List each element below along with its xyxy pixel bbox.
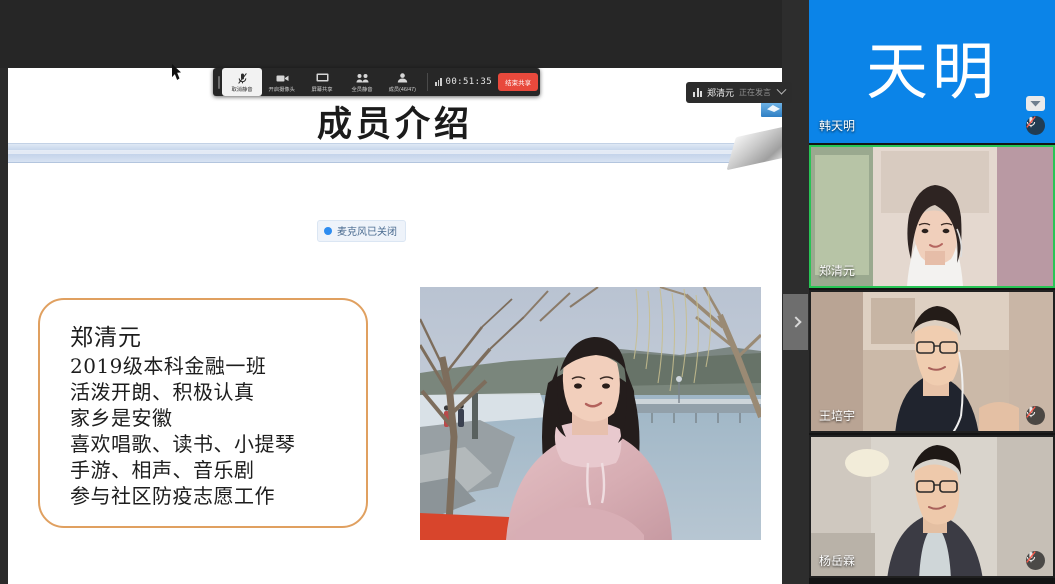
drag-grip-icon[interactable] [215, 68, 222, 96]
meeting-screen-share-window: 成员介绍 郑清元 2019级本科金融一班 活泼开朗、积极认真 家乡是安徽 喜欢唱… [0, 0, 1055, 584]
toolbar-button-mute-all-label: 全员静音 [351, 85, 372, 93]
toolbar-button-mute-all[interactable]: 全员静音 [342, 68, 382, 96]
avatar: 天明 [866, 21, 998, 111]
active-speaker-state: 正在发言 [739, 87, 771, 98]
member-info-text: 郑清元 2019级本科金融一班 活泼开朗、积极认真 家乡是安徽 喜欢唱歌、读书、… [70, 323, 370, 509]
member-detail-line: 手游、相声、音乐剧 [70, 457, 370, 483]
toolbar-button-unmute-label: 取消静音 [231, 85, 252, 93]
meeting-timer-value: 00:51:35 [446, 77, 493, 87]
microphone-muted-icon [1026, 116, 1045, 135]
toolbar-button-participants-label: 成员(46/47) [388, 85, 415, 93]
message-icon[interactable] [1026, 96, 1045, 111]
member-detail-line: 喜欢唱歌、读书、小提琴 [70, 431, 370, 457]
participant-name: 王培宇 [819, 407, 855, 424]
toolbar-button-screen-share-label: 屏幕共享 [311, 85, 332, 93]
member-detail-line: 家乡是安徽 [70, 405, 370, 431]
toolbar-button-camera[interactable]: 开启摄像头 [262, 68, 302, 96]
chevron-down-icon[interactable] [777, 85, 787, 95]
member-detail-line: 2019级本科金融一班 [70, 353, 370, 379]
signal-bars-icon [435, 78, 442, 86]
active-speaker-name: 郑清元 [707, 86, 734, 99]
participant-tile[interactable]: 郑清元 [809, 145, 1055, 288]
toolbar-divider [427, 73, 428, 91]
meeting-timer: 00:51:35 [433, 68, 498, 96]
slide-band-highlight [8, 150, 740, 154]
participant-name: 郑清元 [819, 262, 855, 279]
mute-all-icon [356, 73, 369, 84]
microphone-muted-icon [1026, 551, 1045, 570]
member-photo [420, 287, 761, 540]
toolbar-button-participants[interactable]: 成员(46/47) [382, 68, 422, 96]
slide-title: 成员介绍 [8, 96, 782, 147]
microphone-muted-icon [1026, 406, 1045, 425]
camera-off-icon [276, 73, 289, 84]
member-detail-line: 活泼开朗、积极认真 [70, 379, 370, 405]
active-speaker-indicator[interactable]: 郑清元 正在发言 [686, 82, 792, 103]
collapse-video-rail-button[interactable] [783, 294, 808, 350]
slide-decorative-band [8, 143, 744, 163]
letterbox-top [0, 0, 809, 68]
member-detail-line: 参与社区防疫志愿工作 [70, 483, 370, 509]
microphone-off-toast-label: 麦克风已关闭 [337, 223, 397, 238]
end-share-button[interactable]: 结束共享 [498, 73, 538, 91]
toolbar-button-camera-label: 开启摄像头 [269, 85, 295, 93]
participant-name: 杨岳霖 [819, 552, 855, 569]
participant-tile[interactable]: 杨岳霖 [809, 435, 1055, 578]
participant-tile[interactable]: 天明 韩天明 [809, 0, 1055, 143]
member-name: 郑清元 [70, 323, 370, 353]
microphone-muted-icon [238, 73, 247, 84]
microphone-off-toast: 麦克风已关闭 [317, 220, 406, 242]
shared-screen-area: 成员介绍 郑清元 2019级本科金融一班 活泼开朗、积极认真 家乡是安徽 喜欢唱… [0, 0, 809, 584]
chevron-right-icon [790, 316, 801, 327]
participant-tile[interactable]: 王培宇 [809, 290, 1055, 433]
presentation-slide: 成员介绍 郑清元 2019级本科金融一班 活泼开朗、积极认真 家乡是安徽 喜欢唱… [8, 68, 782, 584]
participants-icon [397, 73, 408, 84]
audio-level-icon [693, 88, 702, 97]
toolbar-button-unmute[interactable]: 取消静音 [222, 68, 262, 96]
screen-share-icon [316, 73, 329, 84]
info-dot-icon [324, 227, 332, 235]
participant-name: 韩天明 [819, 117, 855, 134]
meeting-toolbar[interactable]: 取消静音 开启摄像头 屏幕共享 [213, 68, 540, 96]
toolbar-button-screen-share[interactable]: 屏幕共享 [302, 68, 342, 96]
participant-video-rail: 天明 韩天明 [809, 0, 1055, 584]
